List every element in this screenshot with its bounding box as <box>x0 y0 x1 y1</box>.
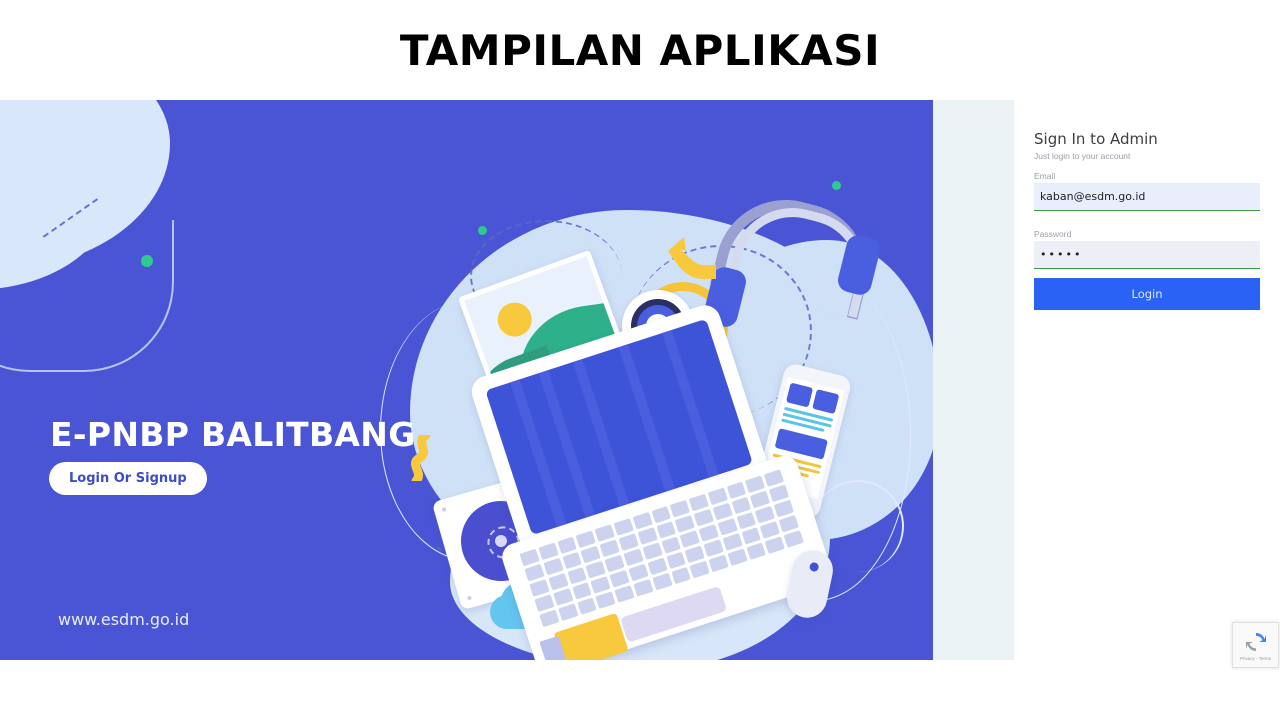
key <box>600 540 620 558</box>
key <box>529 579 549 597</box>
key <box>596 591 616 609</box>
key <box>642 543 662 561</box>
key <box>694 509 714 527</box>
login-or-signup-button[interactable]: Login Or Signup <box>49 462 207 495</box>
hero-website-url: www.esdm.go.id <box>58 610 189 629</box>
key <box>543 558 563 576</box>
photo-sun-icon <box>493 298 537 342</box>
key <box>576 530 596 548</box>
key <box>651 506 671 524</box>
key <box>637 527 657 545</box>
screen-stripe-5 <box>662 330 718 478</box>
field-spacer <box>1034 211 1260 229</box>
key <box>704 539 724 557</box>
key <box>553 588 573 606</box>
plug-pins <box>539 636 566 660</box>
email-label: Email <box>1034 171 1260 181</box>
key <box>680 530 700 548</box>
recaptcha-label: Privacy - Terms <box>1240 656 1271 661</box>
key <box>534 594 554 612</box>
key <box>595 524 615 542</box>
illustration-cluster <box>390 150 910 660</box>
mouse-scroll-button <box>809 562 820 573</box>
key <box>577 597 597 615</box>
app-screenshot: E-PNBP BALITBANG Login Or Signup www.esd… <box>0 100 1280 660</box>
key <box>581 546 601 564</box>
key <box>727 548 747 566</box>
key <box>628 564 648 582</box>
key <box>722 533 742 551</box>
key <box>591 576 611 594</box>
hero-panel: E-PNBP BALITBANG Login Or Signup www.esd… <box>0 100 933 660</box>
key <box>784 530 804 548</box>
key <box>647 558 667 576</box>
signin-subheading: Just login to your account <box>1034 151 1260 161</box>
key <box>519 549 539 567</box>
key <box>699 524 719 542</box>
key <box>690 561 710 579</box>
key <box>618 533 638 551</box>
key <box>623 549 643 567</box>
key <box>586 561 606 579</box>
login-button[interactable]: Login <box>1034 278 1260 310</box>
key <box>558 604 578 622</box>
key <box>760 521 780 539</box>
key <box>779 515 799 533</box>
key <box>741 527 761 545</box>
divider-strip <box>933 100 1014 660</box>
key <box>718 518 738 536</box>
key <box>745 475 765 493</box>
arrow-up-left-icon <box>660 235 722 283</box>
key <box>750 491 770 509</box>
key <box>689 494 709 512</box>
signin-panel: Sign In to Admin Just login to your acco… <box>1014 100 1280 660</box>
key <box>632 512 652 530</box>
key <box>539 610 559 628</box>
accent-dot-green-1 <box>141 255 153 267</box>
recaptcha-icon <box>1244 630 1268 654</box>
recaptcha-badge[interactable]: Privacy - Terms <box>1232 622 1279 668</box>
key <box>614 518 634 536</box>
screen-stripe-4 <box>618 344 674 492</box>
key <box>769 485 789 503</box>
disk-screw-3 <box>467 595 472 600</box>
disk-screw-1 <box>442 507 447 512</box>
page-title: TAMPILAN APLIKASI <box>0 0 1280 100</box>
key <box>726 482 746 500</box>
key <box>610 570 630 588</box>
key <box>538 543 558 561</box>
key <box>605 555 625 573</box>
key <box>562 552 582 570</box>
password-label: Password <box>1034 229 1260 239</box>
key <box>713 503 733 521</box>
key <box>524 564 544 582</box>
key <box>731 497 751 515</box>
arrow-up-right-icon <box>695 655 757 660</box>
key <box>615 585 635 603</box>
signin-heading: Sign In to Admin <box>1034 130 1260 148</box>
key <box>685 546 705 564</box>
signin-form: Sign In to Admin Just login to your acco… <box>1034 130 1260 310</box>
hero-title: E-PNBP BALITBANG <box>50 415 416 454</box>
key <box>670 500 690 518</box>
key <box>708 488 728 506</box>
key <box>709 555 729 573</box>
key <box>633 579 653 597</box>
key <box>774 500 794 518</box>
key <box>671 567 691 585</box>
key <box>755 506 775 524</box>
key <box>652 573 672 591</box>
key <box>765 536 785 554</box>
key <box>746 542 766 560</box>
key <box>666 552 686 570</box>
key <box>764 469 784 487</box>
key <box>557 537 577 555</box>
key <box>567 567 587 585</box>
password-input[interactable] <box>1034 241 1260 269</box>
email-input[interactable] <box>1034 183 1260 211</box>
key <box>736 512 756 530</box>
phone-tile-2 <box>812 389 839 414</box>
key <box>548 573 568 591</box>
key <box>661 536 681 554</box>
page-root: TAMPILAN APLIKASI <box>0 0 1280 720</box>
key <box>675 515 695 533</box>
key <box>572 582 592 600</box>
key <box>656 521 676 539</box>
